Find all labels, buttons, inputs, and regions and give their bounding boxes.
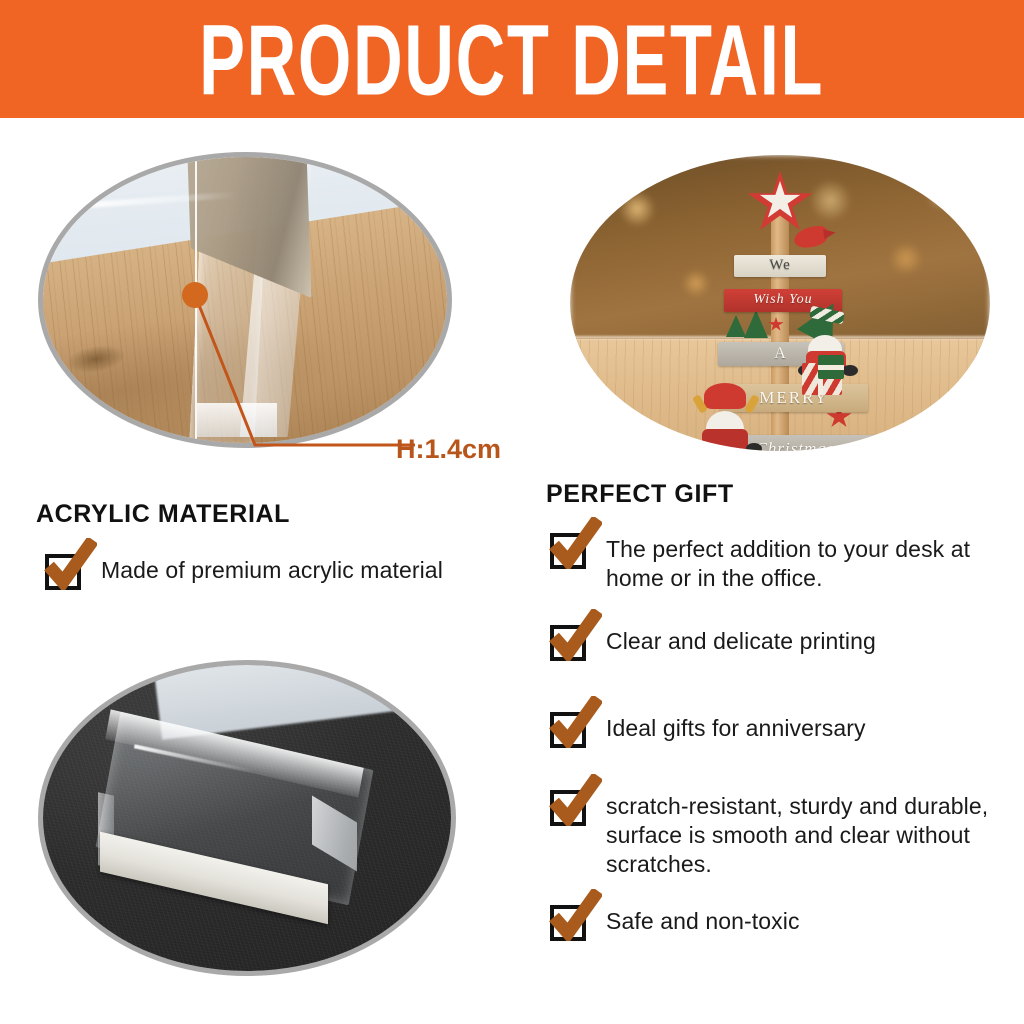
checkbox-checked-icon [550,533,586,569]
bullet-item-perfect-addition: The perfect addition to your desk at hom… [550,533,1016,593]
acrylic-edge-on-wood-photo [38,152,452,448]
bullet-label: Made of premium acrylic material [101,556,443,585]
gnome-foot [746,443,762,451]
bullet-item-clear-printing: Clear and delicate printing [550,625,1016,661]
bullet-item-ideal-gifts: Ideal gifts for anniversary [550,712,1016,748]
acrylic-slab-base [197,403,278,437]
gift-box-icon [818,355,844,379]
product-detail-page: PRODUCT DETAIL H:1.4cm [0,0,1024,1024]
acrylic-edge-image-content [43,157,447,443]
bullet-label: Ideal gifts for anniversary [606,714,1016,743]
acrylic-block-image-content [43,665,451,971]
perfect-gift-heading: PERFECT GIFT [546,480,734,509]
checkmark-icon [548,609,602,661]
checkmark-icon [548,889,602,941]
bullet-label: Clear and delicate printing [606,627,1016,656]
dimension-label: H:1.4cm [396,434,501,465]
gnome-antler [744,394,760,414]
bullet-item-scratch-resistant: scratch-resistant, sturdy and durable, s… [550,790,1016,879]
checkbox-checked-icon [550,625,586,661]
sign-plank-we: We [734,255,826,277]
bullet-item-acrylic-material: Made of premium acrylic material [45,554,443,590]
page-title: PRODUCT DETAIL [199,11,824,111]
gnome-hat [704,383,746,409]
gift-ribbon [818,365,844,370]
acrylic-block-on-slate-photo [38,660,456,976]
checkmark-icon [548,774,602,826]
gnome-foot [842,365,858,376]
checkbox-checked-icon [550,712,586,748]
mini-tree-icon [726,315,746,337]
checkmark-icon [548,517,602,569]
gnome-red-hat-figure [692,385,768,451]
mini-tree-icon [744,310,768,338]
acrylic-material-heading: ACRYLIC MATERIAL [36,500,290,529]
checkmark-icon [43,538,97,590]
checkbox-checked-icon [550,905,586,941]
checkmark-icon [548,696,602,748]
bullet-label: scratch-resistant, sturdy and durable, s… [606,792,1016,879]
bullet-item-safe-non-toxic: Safe and non-toxic [550,905,1016,941]
checkbox-checked-icon [550,790,586,826]
christmas-tree-image-content: We Wish You A MERRY Christmas [570,155,990,451]
checkbox-checked-icon [45,554,81,590]
gnome-foot [694,443,710,451]
bullet-label: Safe and non-toxic [606,907,1016,936]
bullet-label: The perfect addition to your desk at hom… [606,535,1016,593]
page-header-banner: PRODUCT DETAIL [0,0,1024,118]
christmas-signpost-tree-photo: We Wish You A MERRY Christmas [570,155,990,451]
